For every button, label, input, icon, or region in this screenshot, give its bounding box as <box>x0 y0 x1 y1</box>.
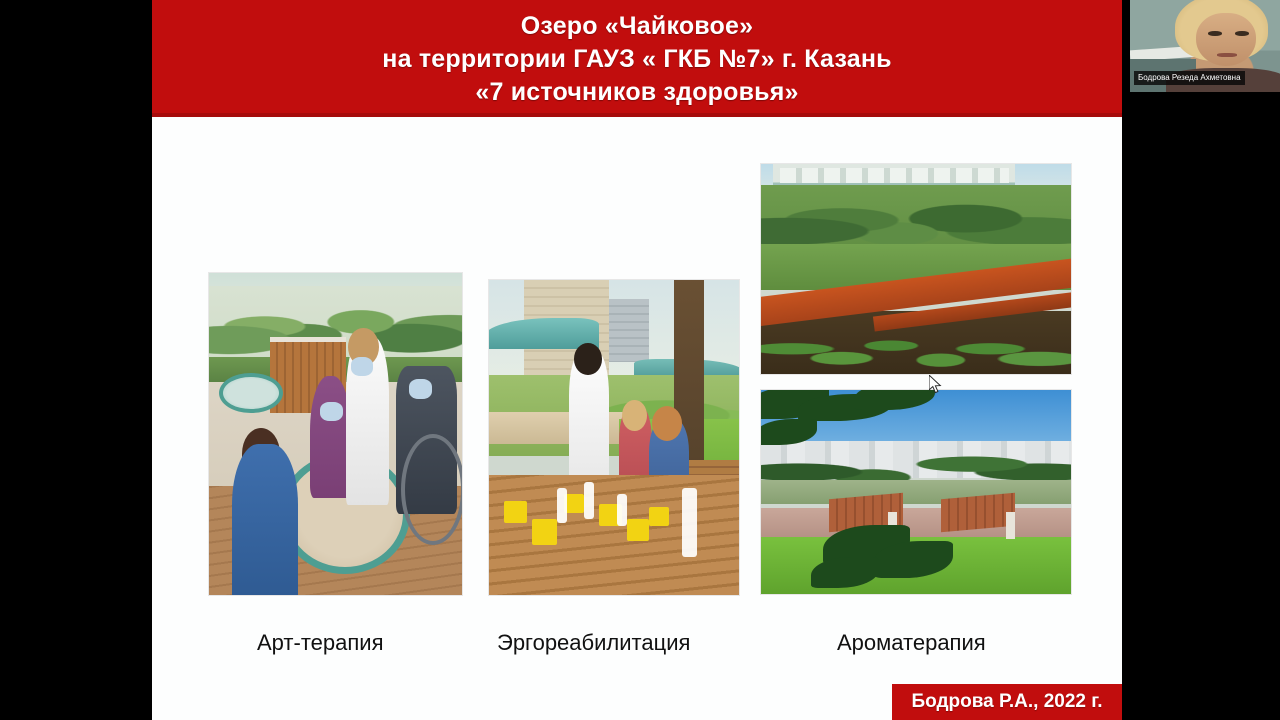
ergotherapy-photo-scene <box>489 280 739 595</box>
caption-ergotherapy: Эргореабилитация <box>497 630 690 656</box>
video-conference-screen: Озеро «Чайковое» на территории ГАУЗ « ГК… <box>0 0 1280 720</box>
slide-title-line-1: Озеро «Чайковое» <box>521 10 753 43</box>
attribution-badge: Бодрова Р.А., 2022 г. <box>892 684 1122 720</box>
slide-title-line-2: на территории ГАУЗ « ГКБ №7» г. Казань <box>382 43 891 76</box>
caption-art-therapy: Арт-терапия <box>257 630 383 656</box>
ergotherapy-photo <box>488 279 740 596</box>
webcam-tile[interactable]: Бодрова Резеда Ахметовна <box>1130 0 1280 92</box>
lounge-chairs-photo <box>760 389 1072 595</box>
title-banner-underline <box>152 113 1122 117</box>
webcam-participant-name: Бодрова Резеда Ахметовна <box>1134 71 1245 85</box>
garden-beds-photo <box>760 163 1072 375</box>
attribution-text: Бодрова Р.А., 2022 г. <box>911 691 1102 713</box>
caption-aromatherapy: Ароматерапия <box>837 630 986 656</box>
garden-beds-photo-scene <box>761 164 1071 374</box>
lounge-chairs-photo-scene <box>761 390 1071 594</box>
art-therapy-photo-scene <box>209 273 462 595</box>
slide-title-banner: Озеро «Чайковое» на территории ГАУЗ « ГК… <box>152 0 1122 117</box>
art-therapy-photo <box>208 272 463 596</box>
slide-title-line-3: «7 источников здоровья» <box>475 76 798 109</box>
presentation-slide: Озеро «Чайковое» на территории ГАУЗ « ГК… <box>152 0 1122 720</box>
